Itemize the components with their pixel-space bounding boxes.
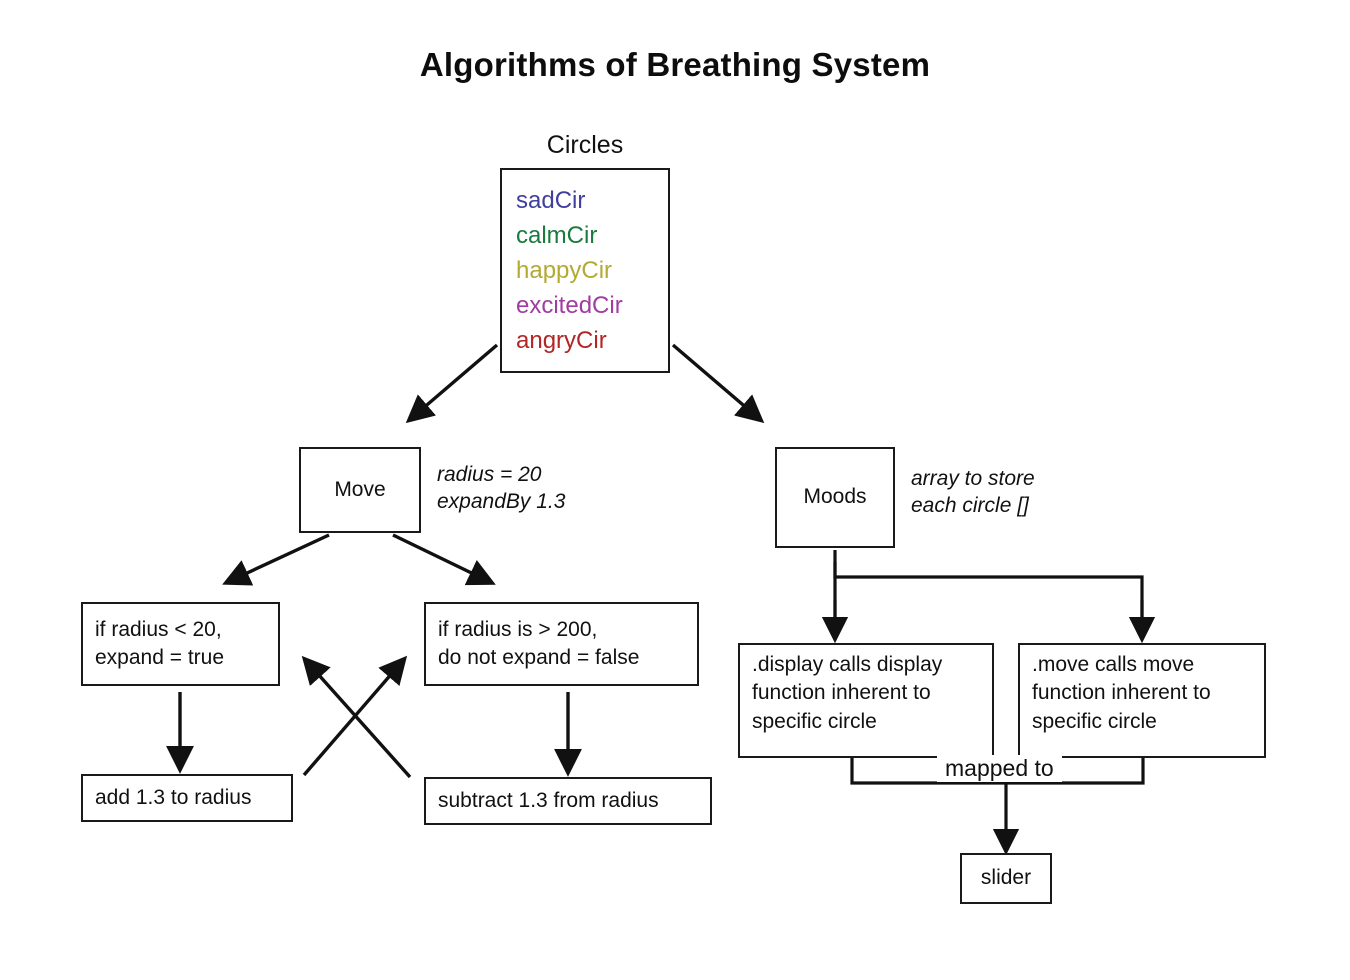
move-call-node[interactable]: .move calls move function inherent to sp… [1018,643,1266,758]
page-title: Algorithms of Breathing System [0,46,1350,84]
condition-expand-false-node[interactable]: if radius is > 200, do not expand = fals… [424,602,699,686]
circles-caption: Circles [470,131,700,160]
moods-note: array to store each circle [] [911,466,1035,520]
circle-item-sad: sadCir [516,183,585,218]
edge-move-to-cond-left [232,535,329,580]
slider-node[interactable]: slider [960,853,1052,904]
mapped-to-label: mapped to [937,755,1062,782]
move-node[interactable]: Move [299,447,421,533]
edge-subtract-to-cond-left [309,664,410,777]
edge-circles-to-move [414,345,497,416]
move-note: radius = 20 expandBy 1.3 [437,462,565,516]
edge-moods-fork [835,550,1142,633]
condition-expand-true-node[interactable]: if radius < 20, expand = true [81,602,280,686]
edge-circles-to-moods [673,345,756,416]
edge-add-to-cond-right [304,664,400,775]
display-call-node[interactable]: .display calls display function inherent… [738,643,994,758]
moods-node[interactable]: Moods [775,447,895,548]
add-radius-node[interactable]: add 1.3 to radius [81,774,293,822]
circles-node[interactable]: sadCir calmCir happyCir excitedCir angry… [500,168,670,373]
subtract-radius-node[interactable]: subtract 1.3 from radius [424,777,712,825]
circle-item-excited: excitedCir [516,288,623,323]
circle-item-calm: calmCir [516,218,597,253]
circle-item-happy: happyCir [516,253,612,288]
edge-move-to-cond-right [393,535,486,580]
diagram-canvas: Algorithms of Breathing System Circles s… [0,0,1350,980]
circle-item-angry: angryCir [516,323,607,358]
